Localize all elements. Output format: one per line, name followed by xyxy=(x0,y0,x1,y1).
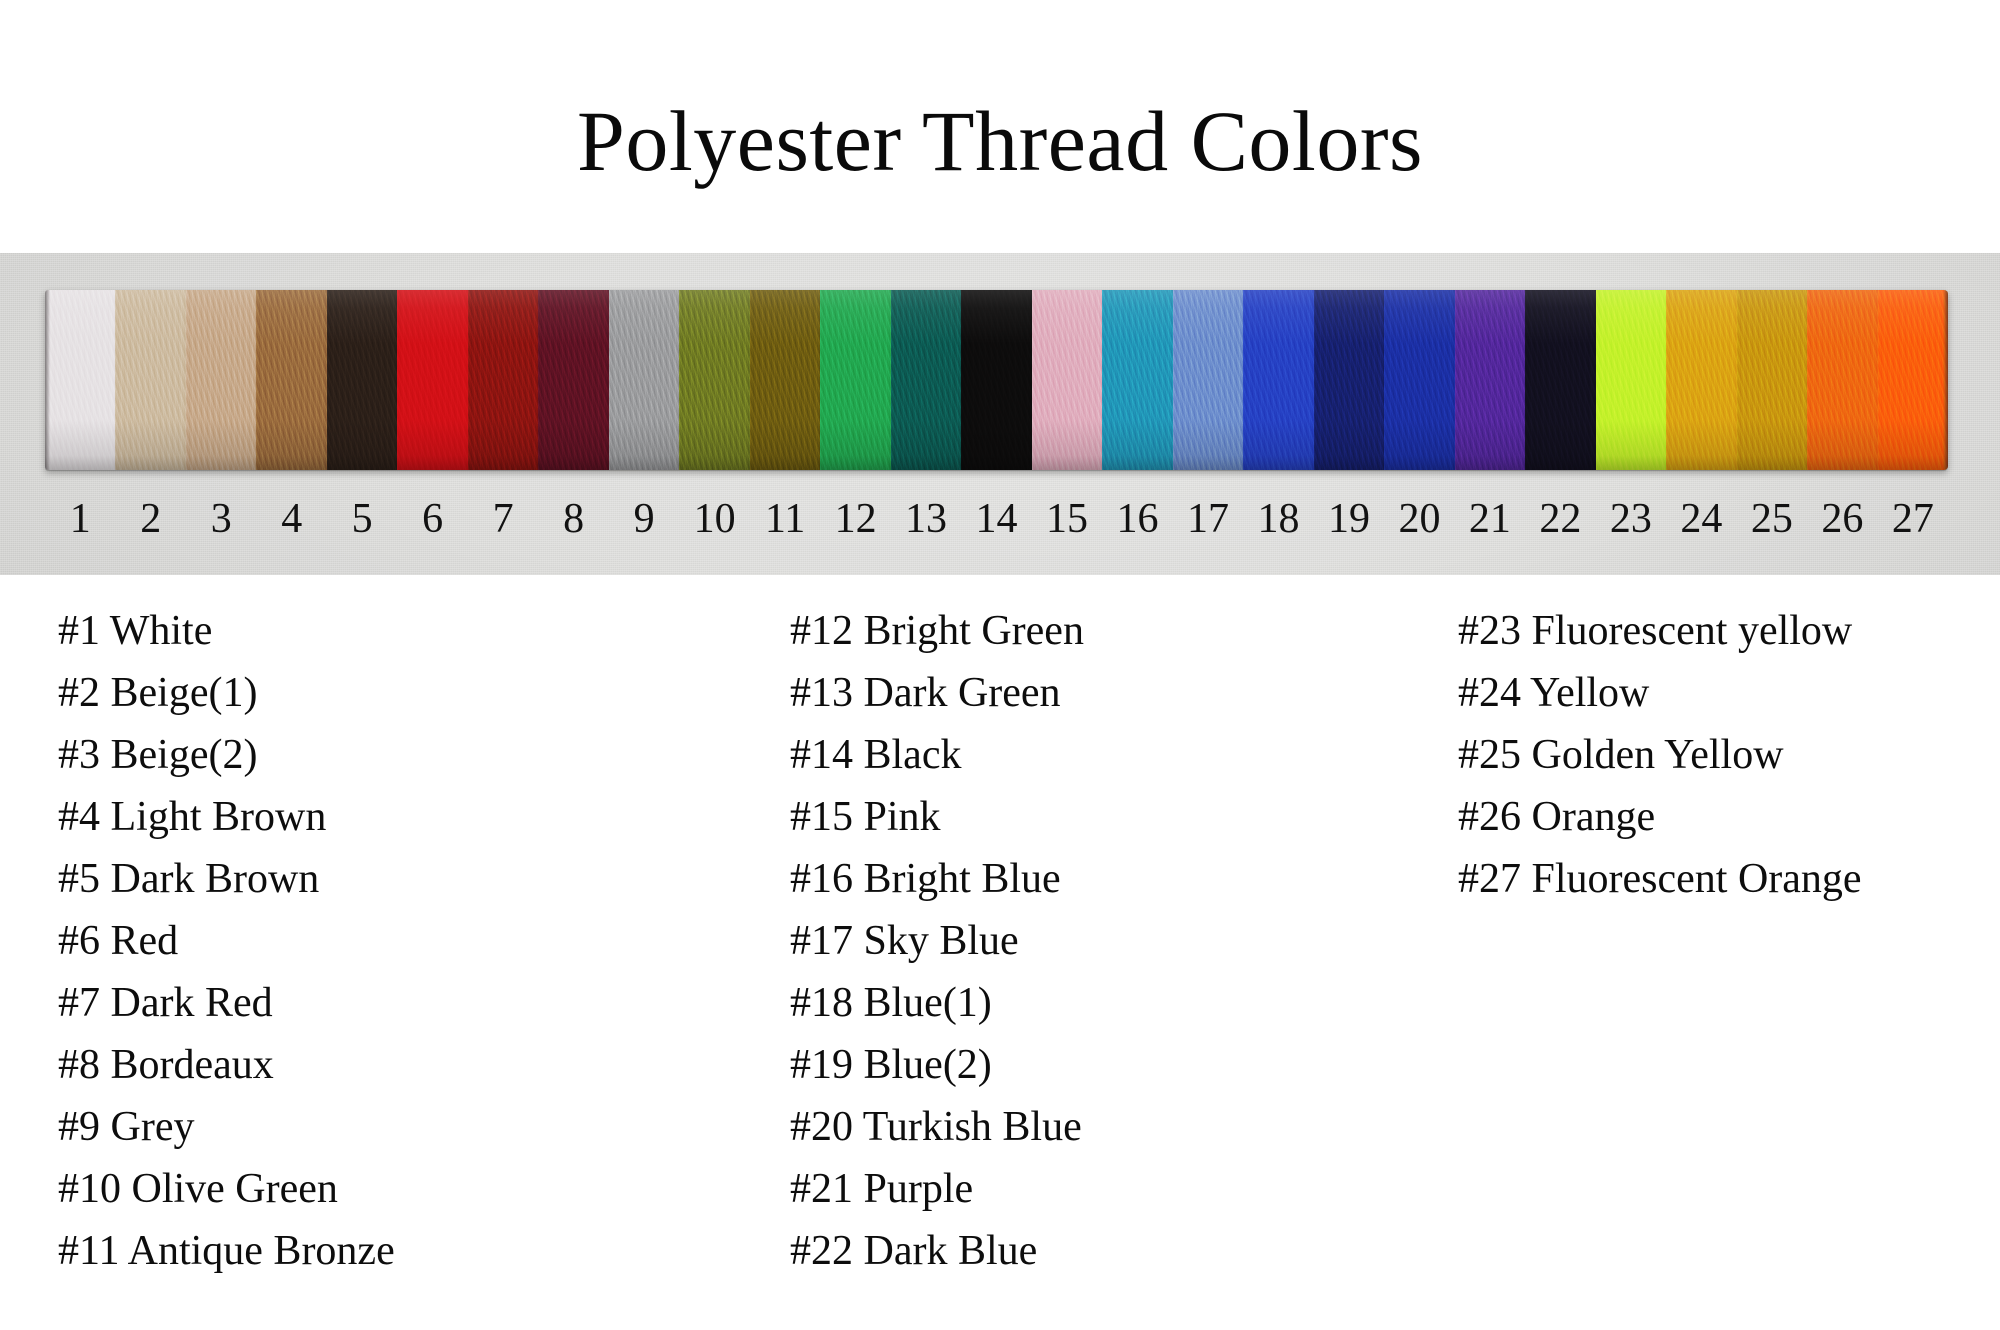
swatch-number-26: 26 xyxy=(1807,498,1877,540)
legend-item: #20 Turkish Blue xyxy=(790,1096,1410,1158)
thread-swatch-11 xyxy=(750,290,820,470)
legend-item: #2 Beige(1) xyxy=(58,662,678,724)
thread-swatch-16 xyxy=(1102,290,1172,470)
thread-swatch-strip xyxy=(45,290,1948,470)
thread-swatch-23 xyxy=(1596,290,1666,470)
thread-swatch-12 xyxy=(820,290,890,470)
legend-item: #4 Light Brown xyxy=(58,786,678,848)
thread-swatch-25 xyxy=(1737,290,1807,470)
swatch-number-24: 24 xyxy=(1666,498,1736,540)
swatch-number-19: 19 xyxy=(1314,498,1384,540)
legend-item: #21 Purple xyxy=(790,1158,1410,1220)
swatch-number-6: 6 xyxy=(397,498,467,540)
swatch-number-7: 7 xyxy=(468,498,538,540)
legend-item: #15 Pink xyxy=(790,786,1410,848)
swatch-number-4: 4 xyxy=(256,498,326,540)
swatch-number-row: 1234567891011121314151617181920212223242… xyxy=(45,490,1948,548)
thread-swatch-18 xyxy=(1243,290,1313,470)
thread-swatch-17 xyxy=(1173,290,1243,470)
legend-item: #6 Red xyxy=(58,910,678,972)
thread-swatch-10 xyxy=(679,290,749,470)
swatch-number-22: 22 xyxy=(1525,498,1595,540)
swatch-number-3: 3 xyxy=(186,498,256,540)
legend-item: #5 Dark Brown xyxy=(58,848,678,910)
legend-item: #8 Bordeaux xyxy=(58,1034,678,1096)
legend-item: #23 Fluorescent yellow xyxy=(1458,600,1998,662)
legend-item: #18 Blue(1) xyxy=(790,972,1410,1034)
legend-item: #1 White xyxy=(58,600,678,662)
thread-swatch-9 xyxy=(609,290,679,470)
swatch-number-18: 18 xyxy=(1243,498,1313,540)
thread-swatch-14 xyxy=(961,290,1031,470)
thread-swatch-19 xyxy=(1314,290,1384,470)
swatch-number-27: 27 xyxy=(1878,498,1948,540)
thread-swatch-22 xyxy=(1525,290,1595,470)
swatch-number-20: 20 xyxy=(1384,498,1454,540)
swatch-number-21: 21 xyxy=(1455,498,1525,540)
swatch-number-23: 23 xyxy=(1596,498,1666,540)
thread-swatch-5 xyxy=(327,290,397,470)
thread-swatch-13 xyxy=(891,290,961,470)
legend-item: #10 Olive Green xyxy=(58,1158,678,1220)
thread-swatch-6 xyxy=(397,290,467,470)
legend-item: #9 Grey xyxy=(58,1096,678,1158)
legend-item: #24 Yellow xyxy=(1458,662,1998,724)
thread-swatch-26 xyxy=(1807,290,1877,470)
swatch-number-11: 11 xyxy=(750,498,820,540)
thread-swatch-2 xyxy=(115,290,185,470)
thread-sample-photo: 1234567891011121314151617181920212223242… xyxy=(0,253,2000,575)
swatch-number-13: 13 xyxy=(891,498,961,540)
swatch-number-14: 14 xyxy=(961,498,1031,540)
legend-column-3: #23 Fluorescent yellow#24 Yellow#25 Gold… xyxy=(1458,600,1998,910)
legend-item: #7 Dark Red xyxy=(58,972,678,1034)
thread-swatch-1 xyxy=(45,290,115,470)
swatch-number-2: 2 xyxy=(115,498,185,540)
swatch-number-5: 5 xyxy=(327,498,397,540)
swatch-number-17: 17 xyxy=(1173,498,1243,540)
legend-item: #25 Golden Yellow xyxy=(1458,724,1998,786)
thread-swatch-20 xyxy=(1384,290,1454,470)
legend-item: #26 Orange xyxy=(1458,786,1998,848)
swatch-number-16: 16 xyxy=(1102,498,1172,540)
swatch-number-10: 10 xyxy=(679,498,749,540)
swatch-number-9: 9 xyxy=(609,498,679,540)
swatch-number-15: 15 xyxy=(1032,498,1102,540)
thread-swatch-7 xyxy=(468,290,538,470)
thread-swatch-21 xyxy=(1455,290,1525,470)
swatch-number-8: 8 xyxy=(538,498,608,540)
legend-item: #14 Black xyxy=(790,724,1410,786)
page-title: Polyester Thread Colors xyxy=(0,96,2000,186)
swatch-number-12: 12 xyxy=(820,498,890,540)
legend-item: #13 Dark Green xyxy=(790,662,1410,724)
legend-item: #27 Fluorescent Orange xyxy=(1458,848,1998,910)
thread-swatch-8 xyxy=(538,290,608,470)
thread-swatch-15 xyxy=(1032,290,1102,470)
legend-column-1: #1 White#2 Beige(1)#3 Beige(2)#4 Light B… xyxy=(58,600,678,1282)
thread-swatch-24 xyxy=(1666,290,1736,470)
legend-item: #22 Dark Blue xyxy=(790,1220,1410,1282)
legend-item: #17 Sky Blue xyxy=(790,910,1410,972)
thread-swatch-3 xyxy=(186,290,256,470)
legend-column-2: #12 Bright Green#13 Dark Green#14 Black#… xyxy=(790,600,1410,1282)
legend-item: #3 Beige(2) xyxy=(58,724,678,786)
thread-swatch-27 xyxy=(1878,290,1948,470)
color-legend: #1 White#2 Beige(1)#3 Beige(2)#4 Light B… xyxy=(0,600,2000,1280)
swatch-number-25: 25 xyxy=(1737,498,1807,540)
legend-item: #19 Blue(2) xyxy=(790,1034,1410,1096)
swatch-number-1: 1 xyxy=(45,498,115,540)
thread-swatch-4 xyxy=(256,290,326,470)
legend-item: #12 Bright Green xyxy=(790,600,1410,662)
legend-item: #11 Antique Bronze xyxy=(58,1220,678,1282)
legend-item: #16 Bright Blue xyxy=(790,848,1410,910)
